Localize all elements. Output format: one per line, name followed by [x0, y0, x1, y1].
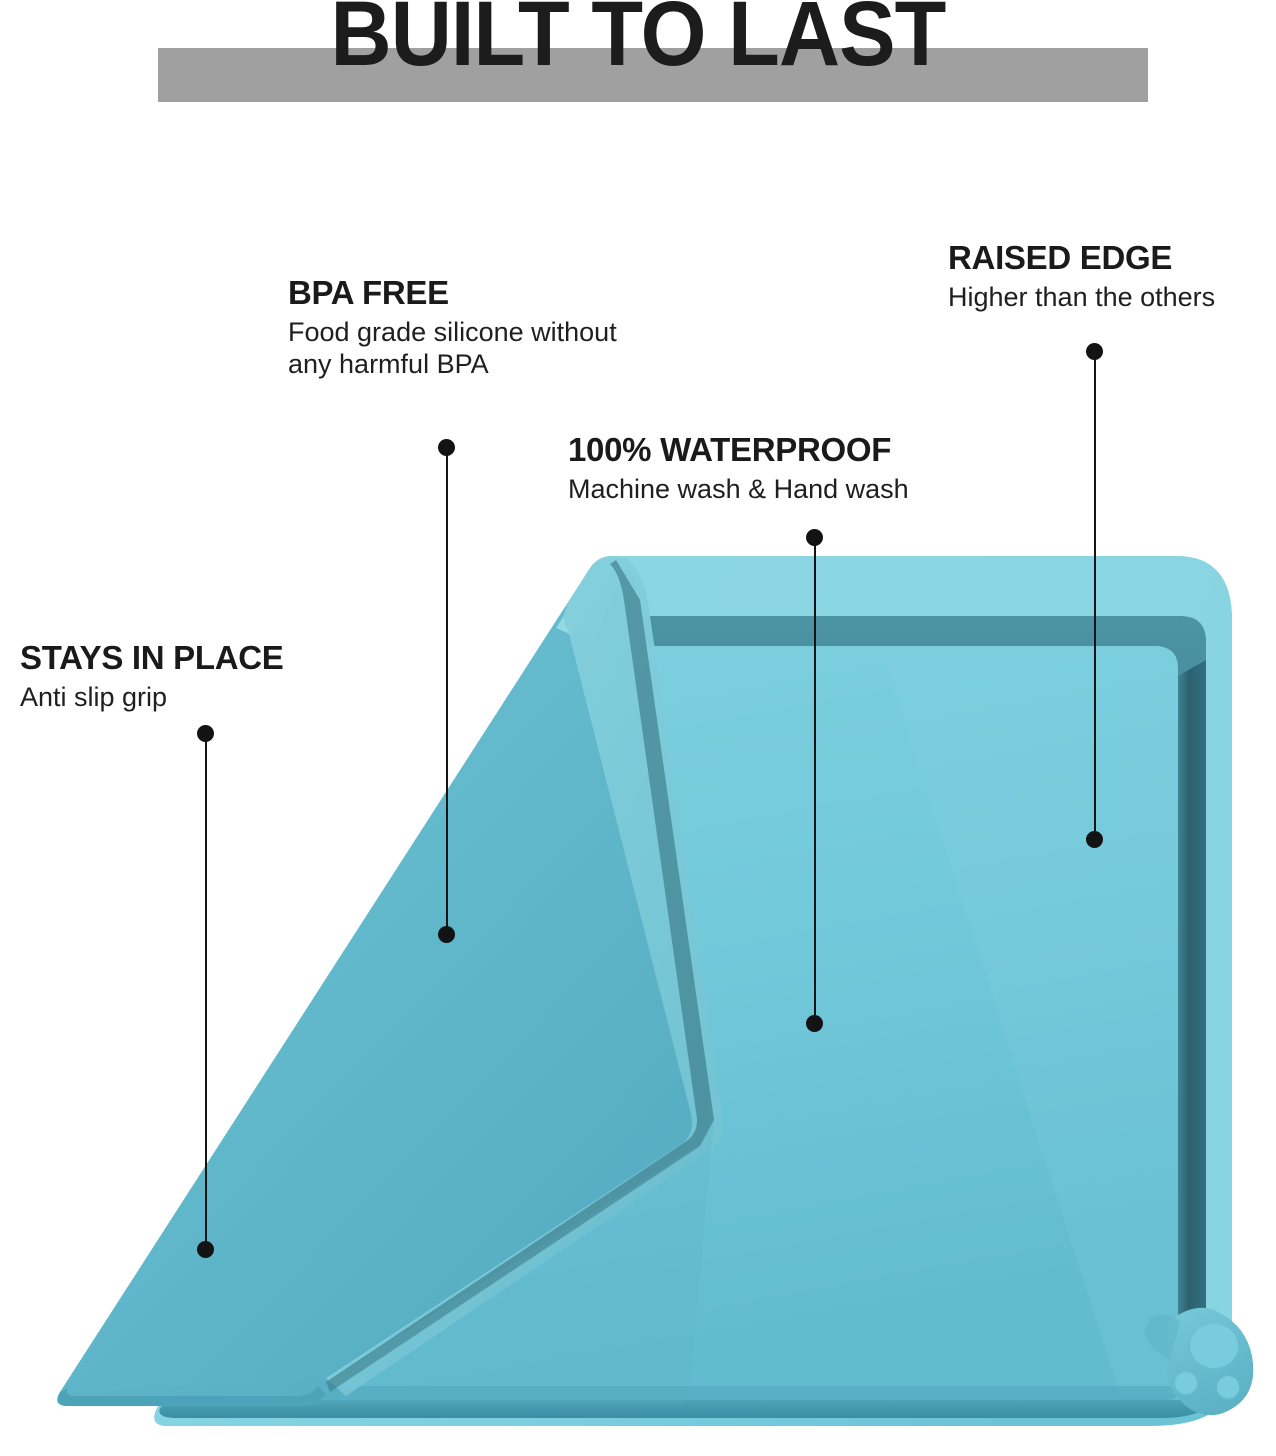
- callout-title: RAISED EDGE: [948, 240, 1215, 277]
- leader-line-raised-edge: [1086, 351, 1103, 840]
- callout-bpa-free: BPA FREE Food grade silicone without any…: [288, 275, 617, 381]
- callout-subtitle: Anti slip grip: [20, 681, 284, 713]
- leader-line-stroke: [1094, 351, 1096, 840]
- leader-dot-bottom: [806, 1015, 823, 1032]
- leader-dot-top: [438, 439, 455, 456]
- leader-line-stroke: [446, 447, 448, 935]
- callout-raised-edge: RAISED EDGE Higher than the others: [948, 240, 1215, 313]
- leader-line-bpa-free: [438, 447, 455, 935]
- leader-dot-top: [197, 725, 214, 742]
- callout-stays-in-place: STAYS IN PLACE Anti slip grip: [20, 640, 284, 713]
- callout-title: 100% WATERPROOF: [568, 432, 909, 469]
- leader-line-stays-in-place: [197, 733, 214, 1250]
- product-infographic: BUILT TO LAST STAYS IN PLACE Anti slip g…: [0, 0, 1276, 1456]
- leader-line-stroke: [814, 537, 816, 1024]
- callout-subtitle-line-2: any harmful BPA: [288, 348, 617, 380]
- leader-line-waterproof: [806, 537, 823, 1024]
- callout-waterproof: 100% WATERPROOF Machine wash & Hand wash: [568, 432, 909, 505]
- leader-line-stroke: [205, 733, 207, 1250]
- callout-subtitle: Machine wash & Hand wash: [568, 473, 909, 505]
- leader-dot-top: [806, 529, 823, 546]
- callout-subtitle-line-1: Food grade silicone without: [288, 316, 617, 348]
- callout-title: BPA FREE: [288, 275, 617, 312]
- leader-dot-bottom: [197, 1241, 214, 1258]
- leader-dot-bottom: [1086, 831, 1103, 848]
- leader-dot-bottom: [438, 926, 455, 943]
- leader-dot-top: [1086, 343, 1103, 360]
- callout-subtitle: Higher than the others: [948, 281, 1215, 313]
- product-illustration: [0, 0, 1276, 1456]
- callout-title: STAYS IN PLACE: [20, 640, 284, 677]
